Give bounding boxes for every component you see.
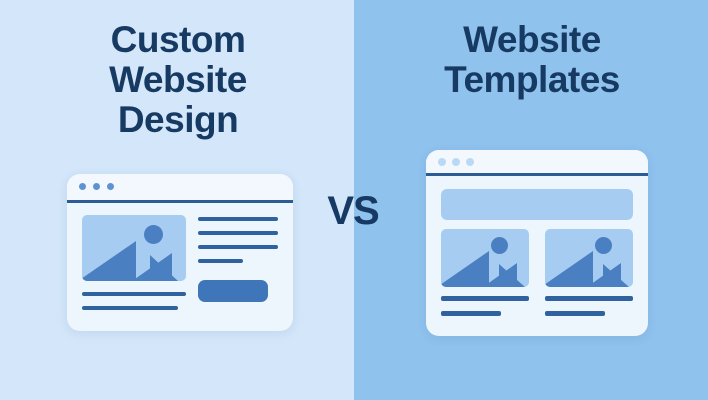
mountain-large-icon [545,251,593,287]
custom-website-design-wireframe [67,174,293,331]
sun-icon [595,237,612,254]
text-line [198,245,278,249]
window-dot-icon-3 [466,158,474,166]
image-placeholder-icon [82,215,186,281]
mountain-right-slope-icon [499,264,525,287]
text-line [545,311,605,316]
text-line [441,296,529,301]
right-panel-heading: Website Templates [372,20,692,100]
cta-button[interactable] [198,280,268,302]
comparison-graphic: Custom Website Design Website Templates … [0,0,708,400]
browser-chrome-bar [426,150,648,176]
window-dot-icon-2 [452,158,460,166]
text-line [82,306,178,310]
text-line [545,296,633,301]
vs-label: VS [308,191,398,231]
sun-icon [144,225,163,244]
text-line [441,311,501,316]
sun-icon [491,237,508,254]
text-line [82,292,186,296]
browser-chrome-bar [67,174,293,203]
window-dot-icon-2 [93,183,100,190]
window-dot-icon-3 [107,183,114,190]
mountain-right-slope-icon [150,255,178,281]
text-line [198,217,278,221]
window-dot-icon-1 [438,158,446,166]
website-templates-wireframe [426,150,648,336]
mountain-large-icon [82,241,136,281]
left-panel-heading: Custom Website Design [18,20,338,140]
window-dot-icon-1 [79,183,86,190]
template-card-2-image [545,229,633,287]
text-line [198,259,243,263]
banner-block [441,189,633,220]
mountain-right-slope-icon [603,264,629,287]
template-card-1-image [441,229,529,287]
mountain-large-icon [441,251,489,287]
text-line [198,231,278,235]
